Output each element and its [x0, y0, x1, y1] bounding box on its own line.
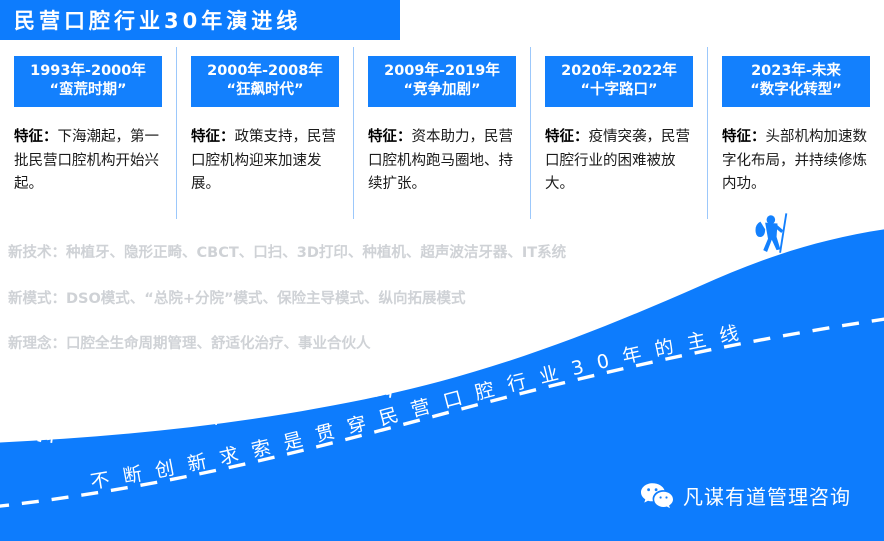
- timeline-card-5: 2023年-未来 “数字化转型” 特征：头部机构加速数字化布局，并持续修炼内功。: [708, 47, 884, 219]
- card-2-lead: 特征：: [191, 129, 235, 145]
- card-1-era: “蛮荒时期”: [18, 81, 158, 100]
- card-3-lead: 特征：: [368, 129, 412, 145]
- card-4-period: 2020年-2022年: [561, 63, 677, 79]
- hiker-3: [366, 359, 397, 398]
- info-line-new-model: 新模式：DSO模式、“总院+分院”模式、保险主导模式、纵向拓展模式: [8, 292, 868, 307]
- timeline-card-3: 2009年-2019年 “竞争加剧” 特征：资本助力，民营口腔机构跑马圈地、持续…: [354, 47, 531, 219]
- card-1-period: 1993年-2000年: [30, 63, 146, 79]
- card-5-period: 2023年-未来: [751, 63, 841, 79]
- wechat-icon: [640, 482, 674, 510]
- card-5-era: “数字化转型”: [726, 81, 866, 100]
- timeline-card-1: 1993年-2000年 “蛮荒时期” 特征：下海潮起，第一批民营口腔机构开始兴起…: [0, 47, 177, 219]
- info-lines: 新技术：种植牙、隐形正畸、CBCT、口扫、3D打印、种植机、超声波洁牙器、IT系…: [8, 238, 868, 352]
- card-5-body: 特征：头部机构加速数字化布局，并持续修炼内功。: [722, 126, 870, 196]
- card-2-body: 特征：政策支持，民营口腔机构迎来加速发展。: [191, 126, 339, 196]
- title-banner: 民营口腔行业30年演进线: [0, 0, 400, 40]
- page-title: 民营口腔行业30年演进线: [0, 5, 301, 35]
- brand-name: 凡谋有道管理咨询: [683, 481, 851, 510]
- card-2-era: “狂飙时代”: [195, 81, 335, 100]
- card-3-body: 特征：资本助力，民营口腔机构跑马圈地、持续扩张。: [368, 126, 516, 196]
- card-3-era: “竞争加剧”: [372, 81, 512, 100]
- card-5-lead: 特征：: [722, 129, 766, 145]
- info-line-new-technology: 新技术：种植牙、隐形正畸、CBCT、口扫、3D打印、种植机、超声波洁牙器、IT系…: [8, 246, 868, 261]
- card-3-period: 2009年-2019年: [384, 63, 500, 79]
- card-2-period: 2000年-2008年: [207, 63, 323, 79]
- timeline-card-4: 2020年-2022年 “十字路口” 特征：疫情突袭，民营口腔行业的困难被放大。: [531, 47, 708, 219]
- card-5-header: 2023年-未来 “数字化转型”: [722, 56, 870, 107]
- card-4-body: 特征：疫情突袭，民营口腔行业的困难被放大。: [545, 126, 693, 196]
- card-2-header: 2000年-2008年 “狂飙时代”: [191, 56, 339, 107]
- timeline-card-2: 2000年-2008年 “狂飙时代” 特征：政策支持，民营口腔机构迎来加速发展。: [177, 47, 354, 219]
- info-line-new-concept: 新理念：口腔全生命周期管理、舒适化治疗、事业合伙人: [8, 337, 868, 352]
- infographic-page: 民营口腔行业30年演进线 1993年-2000年 “蛮荒时期” 特征：下海潮起，…: [0, 0, 884, 541]
- brand-watermark: 凡谋有道管理咨询: [640, 481, 851, 510]
- card-1-header: 1993年-2000年 “蛮荒时期”: [14, 56, 162, 107]
- card-4-lead: 特征：: [545, 129, 589, 145]
- hiker-1: [29, 406, 57, 443]
- card-4-header: 2020年-2022年 “十字路口”: [545, 56, 693, 107]
- hiker-2: [194, 389, 222, 425]
- card-1-lead: 特征：: [14, 129, 58, 145]
- card-4-era: “十字路口”: [549, 81, 689, 100]
- card-3-header: 2009年-2019年 “竞争加剧”: [368, 56, 516, 107]
- card-1-body: 特征：下海潮起，第一批民营口腔机构开始兴起。: [14, 126, 162, 196]
- timeline-cards: 1993年-2000年 “蛮荒时期” 特征：下海潮起，第一批民营口腔机构开始兴起…: [0, 47, 884, 219]
